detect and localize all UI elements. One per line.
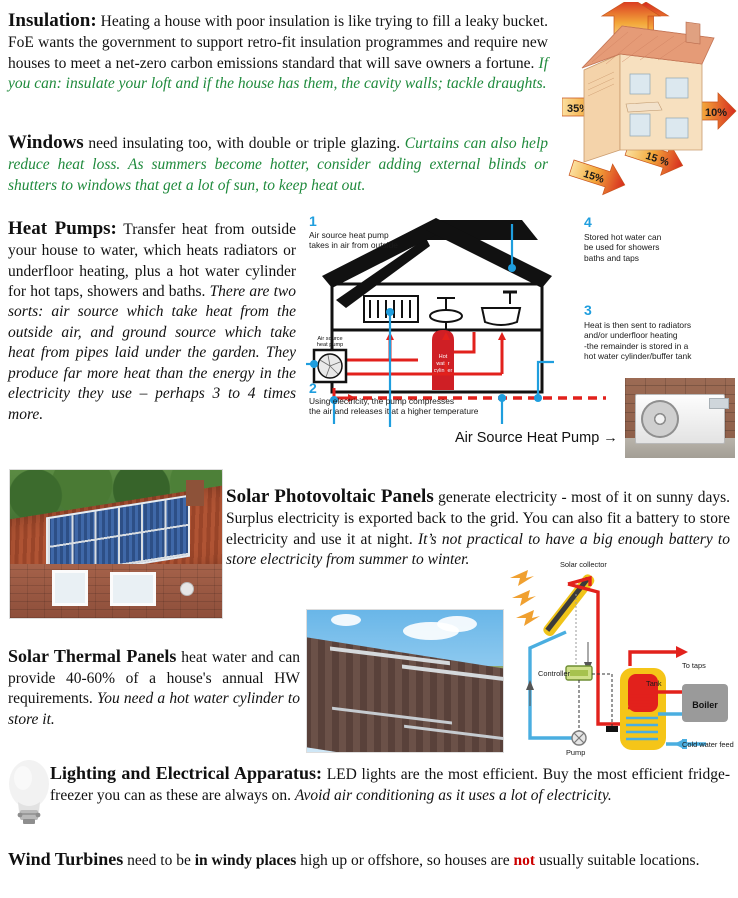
section-insulation-lead: Insulation:	[8, 10, 97, 31]
section-insulation: Insulation: Heating a house with poor in…	[8, 8, 548, 94]
solar-thermal-roof-photo	[306, 609, 504, 753]
window	[52, 570, 88, 606]
svg-text:water: water	[435, 361, 449, 367]
boiler-label: Boiler	[692, 700, 718, 710]
to-taps-label: To taps	[682, 661, 706, 670]
house-heat-loss-diagram: 25% 35% 10% 15 % 15%	[562, 2, 738, 198]
heat-pump-step-1-number: 1	[309, 214, 317, 228]
section-heat-pumps-tip: There are two sorts: air source which ta…	[8, 283, 296, 423]
controller-label: Controller	[538, 669, 570, 678]
section-heat-pumps-lead: Heat Pumps:	[8, 218, 117, 239]
section-lighting: Lighting and Electrical Apparatus: LED l…	[50, 762, 730, 806]
house-illustration	[582, 22, 714, 162]
heat-pump-photo-caption: Air Source Heat Pump →	[455, 430, 618, 446]
section-wind-turbines: Wind Turbines need to be in windy places…	[8, 848, 730, 872]
section-lighting-tip: Avoid air conditioning as it uses a lot …	[295, 787, 612, 804]
pump-label: Pump	[566, 748, 585, 757]
heat-pump-step-2-text: Using electricity, the pump compresses t…	[309, 396, 524, 417]
section-wind-part3: usually suitable locations.	[535, 852, 699, 869]
heat-pump-step-4-number: 4	[584, 214, 734, 230]
chimney	[186, 480, 204, 506]
svg-text:heat pump: heat pump	[317, 342, 343, 348]
heat-pump-step-1-text: Air source heat pump takes in air from o…	[309, 230, 469, 251]
window	[110, 572, 156, 606]
section-solar-pv-lead: Solar Photovoltaic Panels	[226, 486, 434, 507]
cold-water-feed-label: Cold water feed	[682, 740, 734, 749]
light-bulb-icon	[6, 758, 52, 824]
section-wind-part2: high up or offshore, so houses are	[296, 852, 513, 869]
satellite-dish	[180, 582, 194, 596]
vent-grille	[709, 398, 729, 409]
heat-pump-step-3-text: Heat is then sent to radiators and/or un…	[584, 320, 736, 361]
section-solar-thermal: Solar Thermal Panels heat water and can …	[8, 645, 300, 730]
heat-pump-step-2-number: 2	[309, 381, 317, 395]
section-wind-part1: need to be	[123, 852, 194, 869]
solar-pv-roof-photo	[9, 469, 223, 619]
hot-water-cylinder-label: Hot	[439, 354, 448, 360]
heat-loss-label-right-wall: 10%	[705, 107, 727, 119]
heat-pump-step-4: 4 Stored hot water can be used for showe…	[584, 214, 734, 261]
section-heat-pumps: Heat Pumps: Transfer heat from outside y…	[8, 216, 296, 425]
section-wind-emphasis: in windy places	[195, 852, 297, 869]
section-windows: Windows need insulating too, with double…	[8, 130, 548, 196]
section-wind-lead: Wind Turbines	[8, 849, 123, 869]
section-windows-lead: Windows	[8, 132, 84, 153]
cloud	[331, 614, 361, 626]
solar-thermal-system-diagram: Boiler	[506, 556, 738, 754]
fan-icon	[641, 400, 679, 438]
cloud	[437, 616, 477, 632]
tank-label: Tank	[646, 679, 662, 688]
heat-pump-unit-photo	[625, 378, 735, 458]
section-windows-body: need insulating too, with double or trip…	[84, 135, 405, 152]
heat-pump-step-3-number: 3	[584, 302, 738, 318]
section-wind-negation: not	[513, 852, 535, 869]
document-page: Insulation: Heating a house with poor in…	[0, 0, 738, 898]
section-solar-thermal-lead: Solar Thermal Panels	[8, 646, 176, 666]
section-lighting-lead: Lighting and Electrical Apparatus:	[50, 763, 322, 783]
heat-pump-step-3: 3 Heat is then sent to radiators and/or …	[584, 302, 738, 359]
solar-collector-label: Solar collector	[560, 560, 607, 569]
heat-pump-step-4-text: Stored hot water can be used for showers…	[584, 232, 734, 263]
